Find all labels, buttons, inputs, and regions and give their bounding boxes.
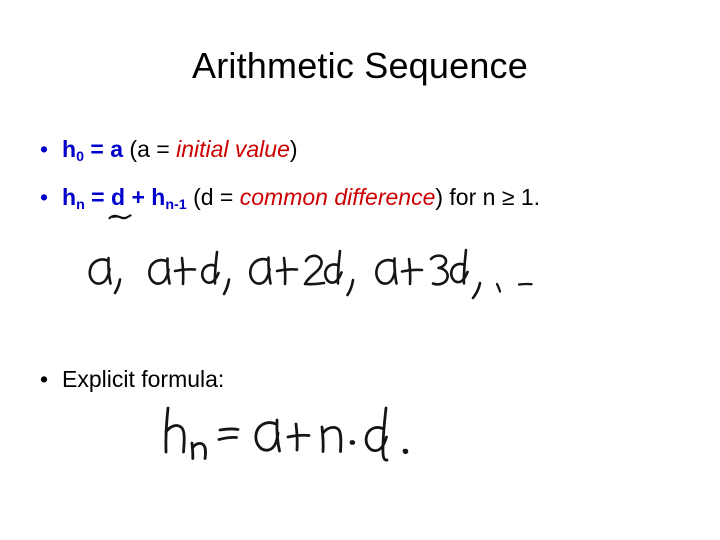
page-title: Arithmetic Sequence — [0, 44, 720, 88]
paren-open: (d = — [187, 184, 240, 210]
bullet-item-explicit-formula-text: Explicit formula: — [62, 364, 224, 394]
formula-d-underlined: d — [111, 182, 125, 212]
handwriting-sequence-expansion — [82, 246, 542, 315]
formula-subscript-n-1: n-1 — [165, 197, 186, 213]
bullet-item-h0: • h0 = a (a = initial value) — [40, 134, 298, 168]
bullet-marker-icon: • — [40, 134, 62, 164]
formula-equals: = — [85, 184, 111, 210]
definition-common-difference: common difference — [240, 184, 436, 210]
condition-n-ge-1: for n ≥ 1. — [443, 184, 540, 210]
bullet-item-explicit-formula: • Explicit formula: — [40, 364, 224, 394]
definition-initial-value: initial value — [176, 136, 290, 162]
bullet-item-hn: • hn = d + hn-1 (d = common difference) … — [40, 182, 540, 216]
bullet-item-h0-text: h0 = a (a = initial value) — [62, 134, 298, 168]
formula-rest: = a — [84, 136, 123, 162]
handwriting-sequence-svg — [82, 246, 542, 310]
paren-open: (a = — [123, 136, 176, 162]
bullet-item-hn-text: hn = d + hn-1 (d = common difference) fo… — [62, 182, 540, 216]
handwriting-explicit-formula — [150, 398, 450, 483]
formula-d: d — [111, 184, 125, 210]
paren-close: ) — [435, 184, 443, 210]
handwritten-underline-icon — [108, 211, 132, 221]
formula-subscript-n: n — [76, 197, 85, 213]
bullet-marker-icon: • — [40, 364, 62, 394]
paren-close: ) — [290, 136, 298, 162]
formula-subscript: 0 — [76, 149, 84, 165]
formula-h: h — [62, 136, 76, 162]
handwriting-explicit-svg — [150, 398, 450, 478]
formula-plus-h: + h — [125, 184, 165, 210]
slide-canvas: Arithmetic Sequence • h0 = a (a = initia… — [0, 0, 720, 540]
bullet-marker-icon: • — [40, 182, 62, 212]
formula-h: h — [62, 184, 76, 210]
